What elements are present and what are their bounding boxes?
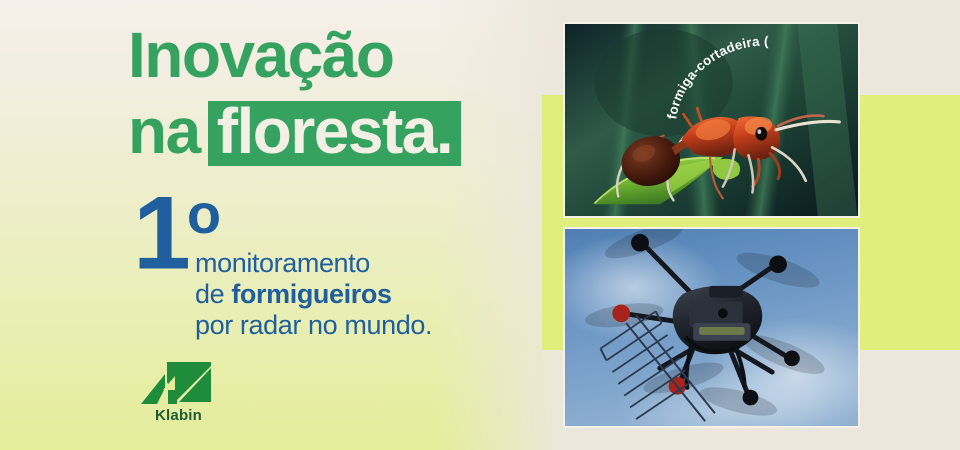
headline-line-2-prefix: na (128, 95, 200, 167)
ant-photo-image: formiga-cortadeira (saúva) (565, 24, 858, 216)
claim-line-1: monitoramento (195, 248, 432, 279)
klabin-innovation-banner: Inovação nafloresta. 1o monitoramento de… (0, 0, 960, 450)
headline-block: Inovação nafloresta. (128, 24, 528, 166)
ant-photo: formiga-cortadeira (saúva) (563, 22, 860, 218)
claim-line-3: por radar no mundo. (195, 310, 432, 341)
drone-photo-image (565, 229, 858, 426)
claim-line-2: de formigueiros (195, 279, 432, 310)
klabin-k-logo-icon (137, 362, 213, 404)
claim-text: monitoramento de formigueiros por radar … (195, 248, 432, 341)
klabin-wordmark: Klabin (137, 407, 257, 424)
klabin-logo: Klabin (137, 362, 257, 424)
claim-number-ordinal: o (187, 182, 219, 245)
claim-number-digit: 1 (133, 176, 187, 292)
headline-line-2: nafloresta. (128, 100, 528, 166)
headline-highlight-floresta: floresta. (208, 101, 461, 166)
claim-line-2-prefix: de (195, 279, 231, 309)
headline-line-1: Inovação (128, 24, 528, 86)
claim-line-2-bold: formigueiros (231, 279, 391, 309)
drone-photo (563, 227, 860, 428)
